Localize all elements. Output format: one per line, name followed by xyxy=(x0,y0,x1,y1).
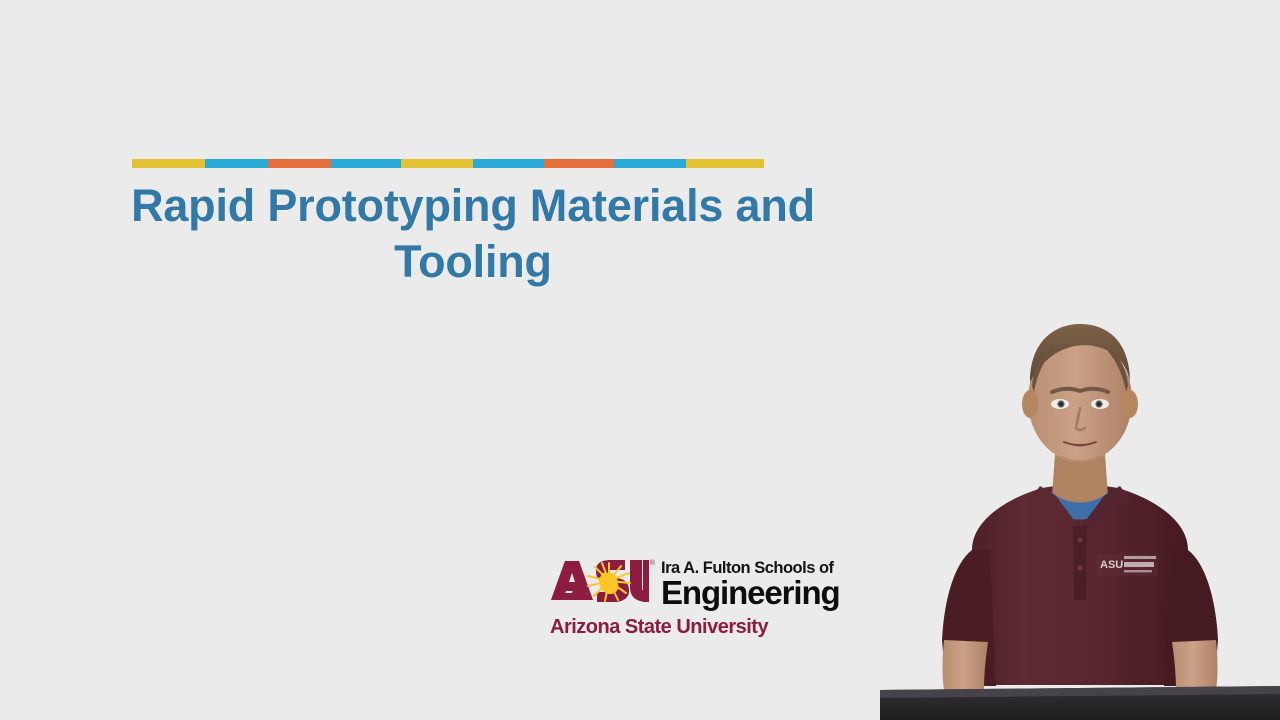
presenter-desk xyxy=(880,686,1280,720)
accent-rule-segment-6 xyxy=(473,159,544,168)
presenter-head xyxy=(1022,324,1138,462)
accent-rule-segment-3 xyxy=(268,159,331,168)
svg-text:ASU: ASU xyxy=(1100,559,1123,571)
accent-rule xyxy=(132,159,764,168)
logo-line-university: Arizona State University xyxy=(550,616,870,638)
fulton-schools-text: Ira A. Fulton Schools of Engineering xyxy=(661,558,870,610)
logo-line-engineering: Engineering xyxy=(661,576,870,610)
accent-rule-segment-8 xyxy=(614,159,686,168)
asu-fulton-logo: ® Ira A. Fulton Schools of Engineering A… xyxy=(550,558,870,642)
accent-rule-segment-7 xyxy=(544,159,614,168)
accent-rule-segment-1 xyxy=(132,159,205,168)
presenter-shirt-logo: ASU xyxy=(1096,554,1158,576)
registered-trademark-icon: ® xyxy=(650,560,655,567)
accent-rule-segment-9 xyxy=(686,159,764,168)
accent-rule-segment-4 xyxy=(331,159,401,168)
page-title: Rapid Prototyping Materials and Tooling xyxy=(108,178,838,290)
accent-rule-segment-2 xyxy=(205,159,268,168)
asu-logo-top-row: ® Ira A. Fulton Schools of Engineering xyxy=(550,558,870,608)
asu-wordmark-icon: ® xyxy=(550,558,650,604)
video-slide-frame: Rapid Prototyping Materials and Tooling xyxy=(0,0,1280,720)
presenter-video: ASU xyxy=(880,300,1280,720)
accent-rule-segment-5 xyxy=(401,159,473,168)
